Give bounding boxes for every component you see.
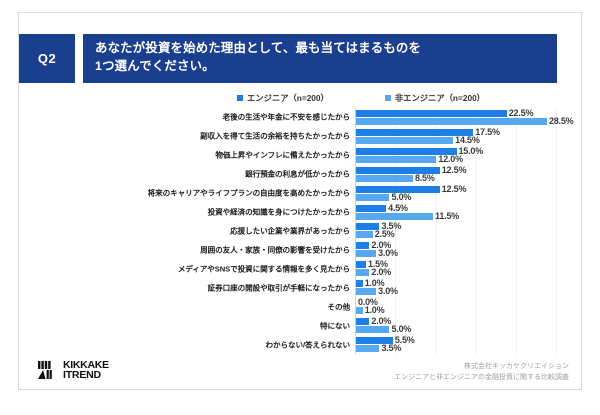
- chart-row: 証券口座の開設や取引が手軽になったから1.0%3.0%: [356, 278, 557, 297]
- category-label: メディアやSNSで投資に関する情報を多く見たから: [178, 263, 350, 274]
- chart-row: 物価上昇やインフレに備えたかったから15.0%12.0%: [356, 146, 557, 165]
- bar-value-label: 3.0%: [378, 286, 398, 296]
- slide-panel: Q2 あなたが投資を始めた理由として、最も当てはまるものを 1つ選んでください。…: [18, 12, 582, 390]
- question-title: あなたが投資を始めた理由として、最も当てはまるものを 1つ選んでください。: [83, 34, 557, 83]
- bar-非エンジニア（n=200）: [356, 231, 373, 238]
- credit-block: 株式会社キッカケクリエイション エンジニアと非エンジニアの金融投資に関する比較調…: [394, 362, 569, 383]
- category-label: わからない/答えられない: [266, 339, 350, 350]
- chart-row: メディアやSNSで投資に関する情報を多く見たから1.5%2.0%: [356, 259, 557, 278]
- bar-value-label: 2.0%: [371, 316, 391, 326]
- bar-value-label: 5.0%: [391, 192, 411, 202]
- chart-row: その他0.0%1.0%: [356, 297, 557, 316]
- category-label: 副収入を得て生活の余裕を持ちたかったから: [200, 131, 350, 142]
- bar-value-label: 22.5%: [509, 108, 534, 118]
- bar-非エンジニア（n=200）: [356, 118, 547, 125]
- chart-row: わからない/答えられない5.5%3.5%: [356, 335, 557, 354]
- bar-value-label: 3.5%: [381, 343, 401, 353]
- bar-非エンジニア（n=200）: [356, 156, 436, 163]
- bar-エンジニア（n=200）: [356, 280, 363, 287]
- category-label: 将来のキャリアやライフプランの自由度を高めたかったから: [148, 188, 350, 199]
- legend-item-non-engineer: 非エンジニア（n=200）: [385, 92, 485, 104]
- bar-非エンジニア（n=200）: [356, 175, 413, 182]
- category-label: 特にない: [320, 320, 350, 331]
- square-swatch-icon: [237, 95, 243, 101]
- bar-非エンジニア（n=200）: [356, 288, 376, 295]
- brand-logo: KIKKAKE ITREND: [37, 359, 109, 381]
- bar-非エンジニア（n=200）: [356, 307, 363, 314]
- legend-label-non-engineer: 非エンジニア（n=200）: [395, 92, 485, 104]
- bar-value-label: 28.5%: [549, 116, 574, 126]
- question-number-badge: Q2: [19, 34, 75, 83]
- bar-value-label: 2.0%: [371, 267, 391, 277]
- chart-legend: エンジニア（n=200） 非エンジニア（n=200）: [19, 89, 583, 106]
- kikkake-itrend-logo-icon: [37, 359, 59, 381]
- bar-エンジニア（n=200）: [356, 318, 369, 325]
- question-title-line-2: 1つ選んでください。: [95, 58, 545, 76]
- credit-survey-name: エンジニアと非エンジニアの金融投資に関する比較調査: [394, 373, 569, 384]
- legend-label-engineer: エンジニア（n=200）: [247, 92, 329, 104]
- slide-footer: KIKKAKE ITREND 株式会社キッカケクリエイション エンジニアと非エン…: [19, 353, 583, 389]
- credit-company: 株式会社キッカケクリエイション: [394, 362, 569, 373]
- bar-value-label: 3.0%: [378, 248, 398, 258]
- category-label: 証券口座の開設や取引が手軽になったから: [208, 282, 350, 293]
- bar-chart: 老後の生活や年金に不安を感じたから22.5%28.5%副収入を得て生活の余裕を持…: [27, 108, 575, 354]
- category-label: 銀行預金の利息が低かったから: [245, 169, 350, 180]
- bar-value-label: 12.5%: [442, 165, 467, 175]
- question-title-line-1: あなたが投資を始めた理由として、最も当てはまるものを: [95, 40, 545, 58]
- bar-value-label: 4.5%: [388, 203, 408, 213]
- category-label: 老後の生活や年金に不安を感じたから: [223, 112, 350, 123]
- bar-エンジニア（n=200）: [356, 110, 507, 117]
- brand-logo-text: KIKKAKE ITREND: [63, 360, 109, 381]
- chart-row: 特にない2.0%5.0%: [356, 316, 557, 335]
- chart-row: 投資や経済の知識を身につけたかったから4.5%11.5%: [356, 203, 557, 222]
- brand-logo-line-2: ITREND: [63, 370, 109, 381]
- bar-非エンジニア（n=200）: [356, 250, 376, 257]
- category-label: 応援したい企業や業界があったから: [230, 225, 350, 236]
- bar-非エンジニア（n=200）: [356, 269, 369, 276]
- category-label: 物価上昇やインフレに備えたかったから: [215, 150, 350, 161]
- chart-row: 銀行預金の利息が低かったから12.5%8.5%: [356, 165, 557, 184]
- bar-非エンジニア（n=200）: [356, 137, 453, 144]
- bar-value-label: 8.5%: [415, 173, 435, 183]
- bar-value-label: 1.0%: [365, 305, 385, 315]
- chart-row: 老後の生活や年金に不安を感じたから22.5%28.5%: [356, 108, 557, 127]
- category-label: 投資や経済の知識を身につけたかったから: [208, 207, 350, 218]
- legend-item-engineer: エンジニア（n=200）: [237, 92, 329, 104]
- bar-非エンジニア（n=200）: [356, 194, 389, 201]
- bar-エンジニア（n=200）: [356, 242, 369, 249]
- bar-非エンジニア（n=200）: [356, 345, 379, 352]
- chart-row: 応援したい企業や業界があったから3.5%2.5%: [356, 222, 557, 241]
- bar-value-label: 2.5%: [375, 229, 395, 239]
- chart-plot-area: 老後の生活や年金に不安を感じたから22.5%28.5%副収入を得て生活の余裕を持…: [355, 108, 557, 354]
- chart-row: 副収入を得て生活の余裕を持ちたかったから17.5%14.5%: [356, 127, 557, 146]
- bar-非エンジニア（n=200）: [356, 213, 433, 220]
- chart-row: 将来のキャリアやライフプランの自由度を高めたかったから12.5%5.0%: [356, 184, 557, 203]
- bar-value-label: 12.0%: [438, 154, 463, 164]
- bar-value-label: 11.5%: [435, 211, 459, 221]
- bar-value-label: 12.5%: [442, 184, 467, 194]
- category-label: 周囲の友人・家族・同僚の影響を受けたから: [200, 244, 350, 255]
- category-label: その他: [328, 301, 350, 312]
- bar-エンジニア（n=200）: [356, 205, 386, 212]
- square-swatch-icon: [385, 95, 391, 101]
- bar-非エンジニア（n=200）: [356, 326, 389, 333]
- bar-value-label: 5.0%: [391, 324, 411, 334]
- chart-row: 周囲の友人・家族・同僚の影響を受けたから2.0%3.0%: [356, 240, 557, 259]
- bar-value-label: 14.5%: [455, 135, 480, 145]
- bar-エンジニア（n=200）: [356, 261, 366, 268]
